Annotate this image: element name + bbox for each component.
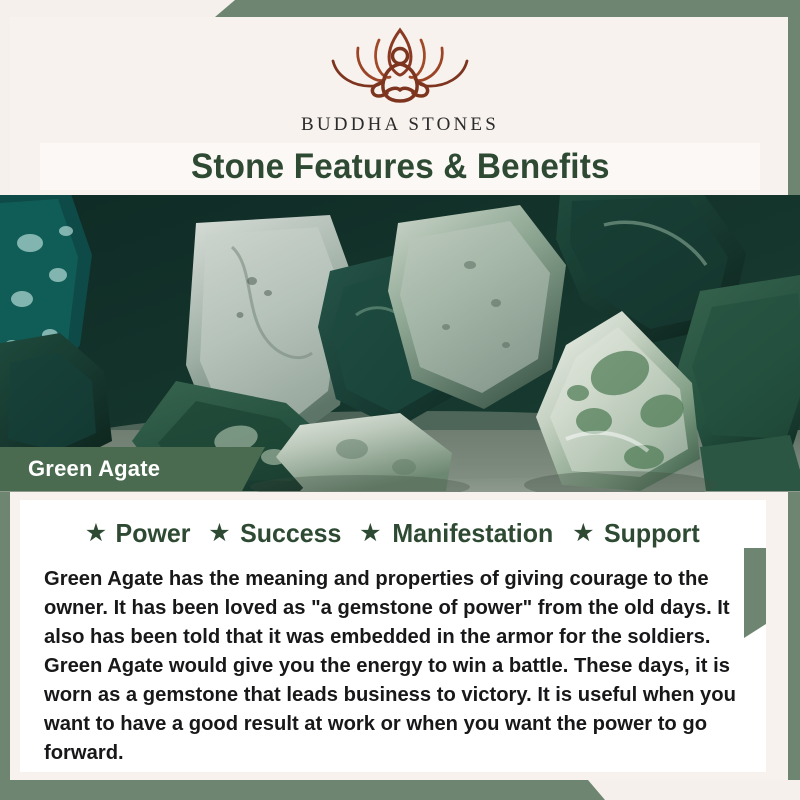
star-icon: ★ [359,521,381,546]
keyword-label: Manifestation [392,518,553,549]
decorative-band-bottom [0,780,605,800]
stone-name-banner: Green Agate [0,447,265,491]
star-icon: ★ [208,521,230,546]
lotus-meditation-figure-icon [315,22,485,110]
keyword-label: Success [240,518,341,549]
keyword-support: ★ Support [572,518,701,549]
benefit-keywords: ★ Power ★ Success ★ Manifestation ★ Supp… [20,518,766,549]
keyword-power: ★ Power [85,518,192,549]
keyword-label: Support [604,518,700,549]
star-icon: ★ [85,521,107,546]
stone-description: Green Agate has the meaning and properti… [44,564,739,767]
brand-name: BUDDHA STONES [301,114,499,136]
info-section: ★ Power ★ Success ★ Manifestation ★ Supp… [10,492,788,780]
keyword-label: Power [116,518,191,549]
decorative-band-top [215,0,800,17]
stone-name: Green Agate [28,456,160,482]
star-icon: ★ [572,521,594,546]
page-title: Stone Features & Benefits [191,147,610,187]
decorative-green-tab [744,548,766,638]
stone-info-poster: BUDDHA STONES Stone Features & Benefits [0,0,800,800]
page-title-bar: Stone Features & Benefits [40,143,760,190]
decorative-band-left [0,476,10,780]
brand-logo: BUDDHA STONES [0,22,800,136]
keyword-success: ★ Success [208,518,343,549]
info-card: ★ Power ★ Success ★ Manifestation ★ Supp… [20,500,766,772]
keyword-manifestation: ★ Manifestation [359,518,556,549]
